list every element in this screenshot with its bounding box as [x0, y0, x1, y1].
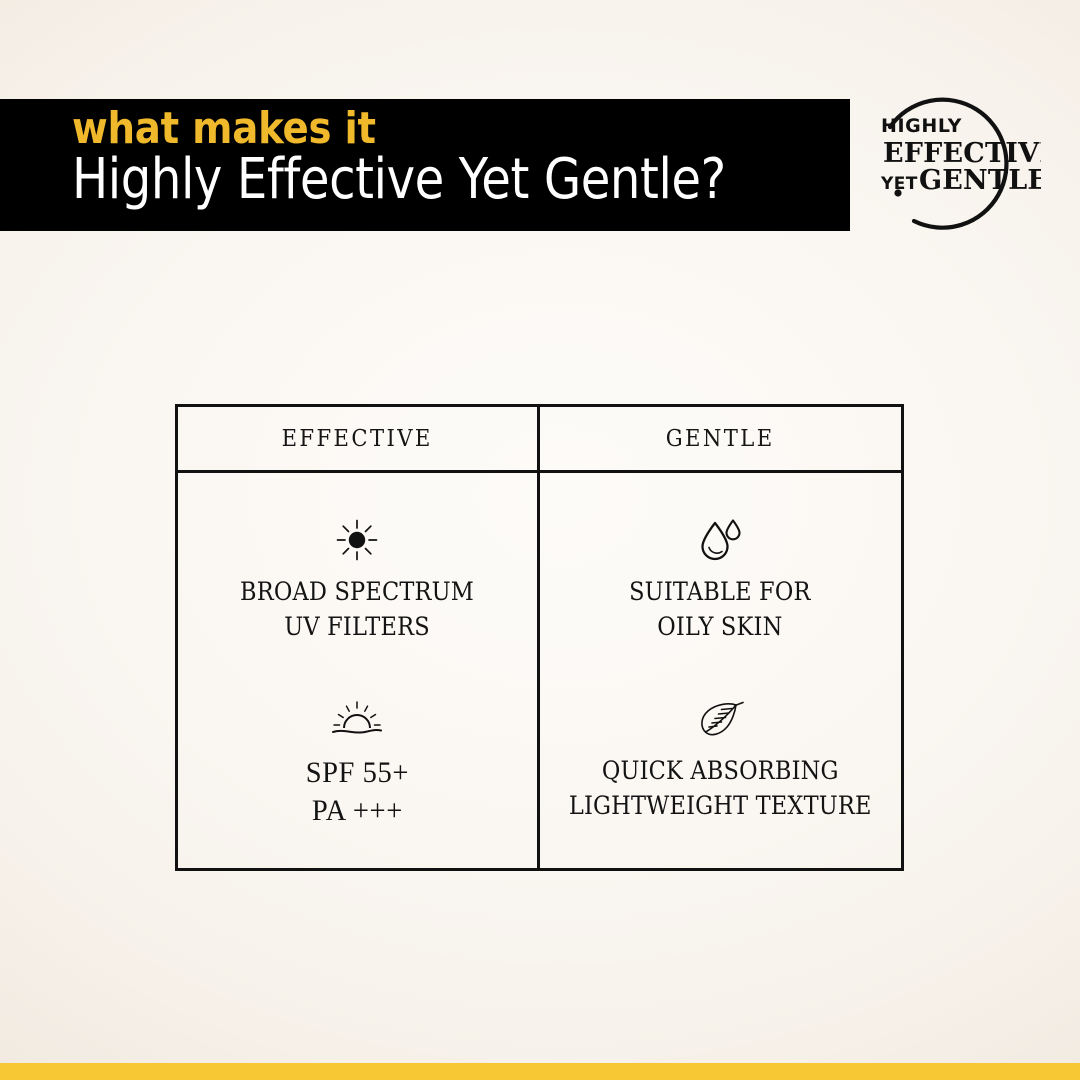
brand-badge: HIGHLY EFFECTIVE YET GENTLE	[866, 96, 1041, 236]
table-header-row: EFFECTIVE GENTLE	[178, 407, 901, 473]
badge-line3-large: GENTLE	[919, 165, 1041, 196]
feature-label: BROAD SPECTRUM UV FILTERS	[240, 575, 474, 644]
poster-canvas: what makes it Highly Effective Yet Gentl…	[0, 0, 1080, 1080]
badge-line3-small: YET	[880, 174, 918, 194]
table-cell-gentle: SUITABLE FOR OILY SKIN	[540, 473, 902, 868]
feature-label-line: UV FILTERS	[240, 610, 474, 645]
header-band: what makes it Highly Effective Yet Gentl…	[0, 99, 850, 231]
feature-label: QUICK ABSORBING LIGHTWEIGHT TEXTURE	[569, 754, 872, 823]
feature-label-line: QUICK ABSORBING	[569, 754, 872, 789]
feature-label-line: PA +++	[306, 792, 409, 830]
feather-icon	[691, 696, 749, 742]
feature-spf: SPF 55+ PA +++	[303, 696, 412, 831]
column-header-label: GENTLE	[666, 426, 775, 452]
column-header-label: EFFECTIVE	[282, 426, 433, 452]
feature-oily-skin: SUITABLE FOR OILY SKIN	[619, 517, 821, 644]
sunrise-icon	[328, 696, 386, 742]
feature-label: SPF 55+ PA +++	[306, 754, 409, 831]
feature-label: SUITABLE FOR OILY SKIN	[629, 575, 811, 644]
feature-lightweight: QUICK ABSORBING LIGHTWEIGHT TEXTURE	[552, 696, 888, 823]
table-body-row: BROAD SPECTRUM UV FILTERS	[178, 473, 901, 868]
feature-broad-spectrum: BROAD SPECTRUM UV FILTERS	[227, 517, 487, 644]
table-header-cell-gentle: GENTLE	[540, 407, 902, 470]
footer-accent-bar	[0, 1063, 1080, 1080]
feature-label-line: SUITABLE FOR	[629, 575, 811, 610]
sun-icon	[334, 517, 380, 563]
feature-label-line: LIGHTWEIGHT TEXTURE	[569, 789, 872, 824]
table-cell-effective: BROAD SPECTRUM UV FILTERS	[178, 473, 540, 868]
feature-label-line: OILY SKIN	[629, 610, 811, 645]
feature-comparison-table: EFFECTIVE GENTLE	[175, 404, 904, 871]
table-header-cell-effective: EFFECTIVE	[178, 407, 540, 470]
feature-label-line: SPF 55+	[306, 754, 409, 792]
circle-ring-badge-icon: HIGHLY EFFECTIVE YET GENTLE	[866, 96, 1041, 236]
page-title: Highly Effective Yet Gentle?	[72, 152, 726, 208]
header-eyebrow: what makes it	[72, 107, 376, 151]
feature-label-line: BROAD SPECTRUM	[240, 575, 474, 610]
water-drops-icon	[697, 517, 743, 563]
badge-line1: HIGHLY	[881, 115, 962, 137]
